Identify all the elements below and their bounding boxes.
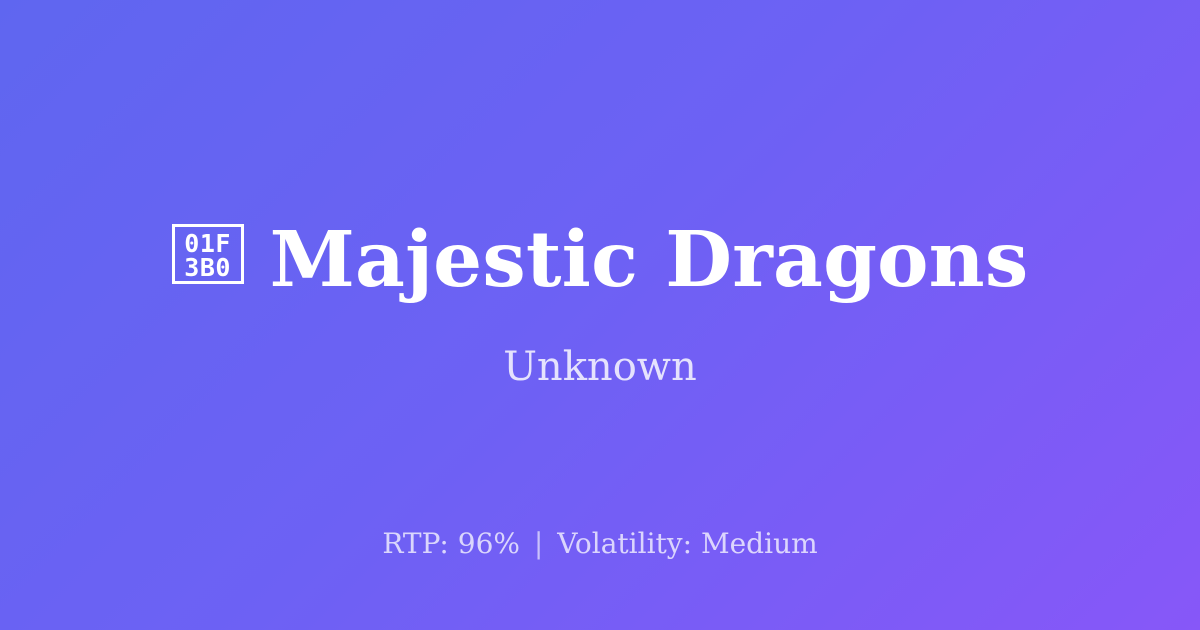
volatility-value: Volatility: Medium (557, 527, 817, 560)
game-preview-card: 01F 3B0 Majestic Dragons Unknown RTP: 96… (0, 0, 1200, 630)
slot-machine-icon: 01F 3B0 (172, 224, 244, 284)
rtp-value: RTP: 96% (382, 527, 520, 560)
game-provider-subtitle: Unknown (503, 302, 697, 390)
tofu-hex-lower: 3B0 (184, 256, 231, 280)
tofu-hex-codepoint: 01F 3B0 (179, 232, 237, 277)
stats-separator: | (529, 527, 548, 560)
game-stats-line: RTP: 96% | Volatility: Medium (0, 528, 1200, 560)
hero-block: 01F 3B0 Majestic Dragons Unknown (0, 218, 1200, 390)
title-row: 01F 3B0 Majestic Dragons (172, 218, 1029, 302)
page-title: Majestic Dragons (270, 218, 1029, 302)
